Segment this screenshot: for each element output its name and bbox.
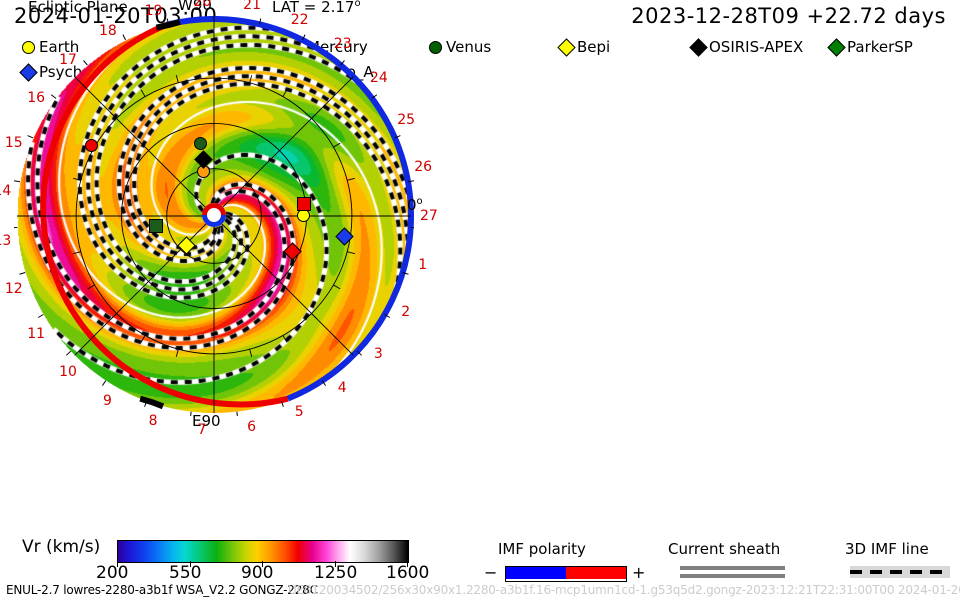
grid-tick-345 bbox=[347, 252, 355, 254]
grid-tick-15 bbox=[347, 178, 355, 180]
grid-tick-255 bbox=[176, 349, 178, 357]
carrington-longitude-label: 4 bbox=[338, 381, 347, 395]
carrington-longitude-label: 18 bbox=[99, 24, 117, 38]
carrington-longitude-label: 2 bbox=[401, 305, 410, 319]
legend-label: OSIRIS-APEX bbox=[709, 38, 803, 56]
carrington-longitude-label: 1 bbox=[418, 258, 427, 272]
carrington-longitude-label: 12 bbox=[5, 282, 23, 296]
colorbar-tick-label: 200 bbox=[96, 563, 128, 583]
outer-tick-22 bbox=[28, 136, 34, 138]
carrington-longitude-label: 11 bbox=[27, 327, 45, 341]
outer-tick-17 bbox=[66, 351, 70, 355]
carrington-longitude-label: 26 bbox=[414, 160, 432, 174]
bepi-marker-icon bbox=[557, 38, 575, 56]
latitude-annotation: LAT = 2.17o bbox=[272, 0, 361, 16]
grid-tick-300 bbox=[283, 335, 287, 342]
grid-tick-60 bbox=[283, 90, 287, 97]
carrington-longitude-label: 9 bbox=[103, 394, 112, 408]
legend-label: Venus bbox=[446, 38, 491, 56]
carrington-longitude-label: 21 bbox=[243, 0, 261, 12]
grid-tick-210 bbox=[88, 285, 95, 289]
velocity-colorbar bbox=[117, 540, 409, 563]
carrington-longitude-label: 5 bbox=[295, 405, 304, 419]
grid-tick-120 bbox=[141, 90, 145, 97]
carrington-longitude-label: 27 bbox=[420, 209, 438, 223]
grid-tick-45 bbox=[312, 113, 318, 119]
imf-3d-line-title: 3D IMF line bbox=[845, 540, 929, 558]
legend-item-bepi: Bepi bbox=[560, 36, 610, 58]
carrington-longitude-label: 24 bbox=[370, 71, 388, 85]
outer-tick-16 bbox=[102, 381, 105, 386]
zero-degree-label: 0o bbox=[407, 196, 423, 214]
current-sheath-swatch bbox=[680, 566, 785, 580]
grid-spoke-315 bbox=[214, 216, 353, 355]
grid-tick-225 bbox=[111, 314, 117, 320]
outer-tick-13 bbox=[237, 412, 238, 416]
osiris-apex-marker-icon bbox=[689, 38, 707, 56]
imf-3d-line-swatch bbox=[850, 566, 950, 578]
body-marker-mars bbox=[85, 139, 98, 152]
sun-marker bbox=[202, 203, 226, 227]
colorbar-tick-label: 550 bbox=[169, 563, 201, 583]
model-version-footer: ENUL-2.7 lowres-2280-a3b1f WSA_V2.2 GONG… bbox=[6, 583, 318, 597]
ecliptic-plane-plot: Ecliptic Plane LAT = 2.17o W90 E90 12345… bbox=[0, 0, 420, 430]
grid-tick-240 bbox=[141, 335, 145, 342]
colorbar-tick-label: 1250 bbox=[314, 563, 357, 583]
sun-core bbox=[207, 208, 221, 222]
latitude-text: LAT = 2.17 bbox=[272, 0, 354, 16]
imf-polarity-title: IMF polarity bbox=[498, 540, 586, 558]
carrington-longitude-label: 20 bbox=[194, 0, 212, 9]
carrington-longitude-label: 23 bbox=[334, 37, 352, 51]
parkersp-marker-icon bbox=[827, 38, 845, 56]
outer-tick-18 bbox=[38, 315, 43, 318]
carrington-longitude-label: 19 bbox=[145, 4, 163, 18]
imf-positive-swatch bbox=[566, 567, 626, 579]
carrington-longitude-label: 3 bbox=[374, 347, 383, 361]
grid-spoke-225 bbox=[75, 216, 214, 355]
venus-marker-icon bbox=[429, 41, 442, 54]
rim-sheath-crossing-2 bbox=[140, 399, 163, 407]
carrington-longitude-label: 25 bbox=[397, 113, 415, 127]
current-sheath-title: Current sheath bbox=[668, 540, 780, 558]
imf-3d-dash bbox=[870, 570, 882, 574]
grid-tick-330 bbox=[333, 285, 340, 289]
grid-tick-135 bbox=[111, 113, 117, 119]
plot-subtitle-ecliptic-plane: Ecliptic Plane bbox=[28, 0, 128, 16]
imf-3d-dash bbox=[850, 570, 862, 574]
carrington-longitude-label: 7 bbox=[198, 423, 207, 437]
carrington-longitude-label: 6 bbox=[247, 420, 256, 434]
zero-degree-symbol: o bbox=[417, 196, 423, 207]
imf-polarity-swatch bbox=[505, 566, 627, 582]
outer-tick-14 bbox=[190, 412, 191, 416]
carrington-longitude-label: 8 bbox=[149, 414, 158, 428]
grid-tick-165 bbox=[73, 178, 81, 180]
grid-tick-195 bbox=[73, 252, 81, 254]
legend-label: Bepi bbox=[577, 38, 610, 56]
zero-text: 0 bbox=[407, 196, 417, 214]
body-marker-stereo_a bbox=[297, 197, 311, 211]
outer-tick-23 bbox=[51, 95, 56, 99]
legend-item-parkersp: ParkerSP bbox=[830, 36, 913, 58]
imf-positive-sign: + bbox=[632, 563, 645, 582]
legend-label: ParkerSP bbox=[847, 38, 913, 56]
colorbar-tick-label: 1600 bbox=[386, 563, 429, 583]
imf-3d-dash bbox=[930, 570, 942, 574]
body-marker-venus bbox=[194, 137, 207, 150]
run-id-watermark: UE0120034502/256x30x90x1.2280-a3b1f.16-m… bbox=[288, 583, 960, 597]
imf-3d-dash bbox=[890, 570, 902, 574]
body-marker-parkersp bbox=[149, 219, 163, 233]
run-start-and-offset: 2023-12-28T09 +22.72 days bbox=[631, 4, 946, 28]
imf-negative-sign: − bbox=[484, 563, 497, 582]
carrington-longitude-label: 13 bbox=[0, 234, 11, 248]
legend-item-venus: Venus bbox=[429, 36, 491, 58]
carrington-longitude-label: 15 bbox=[5, 136, 23, 150]
current-sheath-line-1 bbox=[680, 566, 785, 570]
current-sheath-line-2 bbox=[680, 574, 785, 578]
grid-spoke-45 bbox=[214, 77, 353, 216]
carrington-longitude-label: 14 bbox=[0, 184, 11, 198]
imf-3d-dash bbox=[910, 570, 922, 574]
grid-tick-285 bbox=[250, 349, 252, 357]
imf-negative-swatch bbox=[506, 567, 566, 579]
grid-tick-75 bbox=[250, 75, 252, 83]
colorbar-tick-label: 900 bbox=[241, 563, 273, 583]
grid-tick-105 bbox=[176, 75, 178, 83]
carrington-longitude-label: 16 bbox=[27, 91, 45, 105]
outer-tick-21 bbox=[14, 181, 20, 182]
outer-tick-19 bbox=[20, 273, 26, 275]
colorbar-title: Vr (km/s) bbox=[22, 537, 100, 557]
degree-symbol: o bbox=[354, 0, 360, 9]
grid-tick-30 bbox=[333, 143, 340, 147]
carrington-longitude-label: 10 bbox=[59, 365, 77, 379]
carrington-longitude-label: 22 bbox=[291, 13, 309, 27]
outer-tick-25 bbox=[123, 35, 126, 40]
grid-tick-315 bbox=[312, 314, 318, 320]
carrington-longitude-label: 17 bbox=[59, 53, 77, 67]
legend-item-osiris-apex: OSIRIS-APEX bbox=[692, 36, 803, 58]
outer-tick-24 bbox=[84, 60, 88, 65]
